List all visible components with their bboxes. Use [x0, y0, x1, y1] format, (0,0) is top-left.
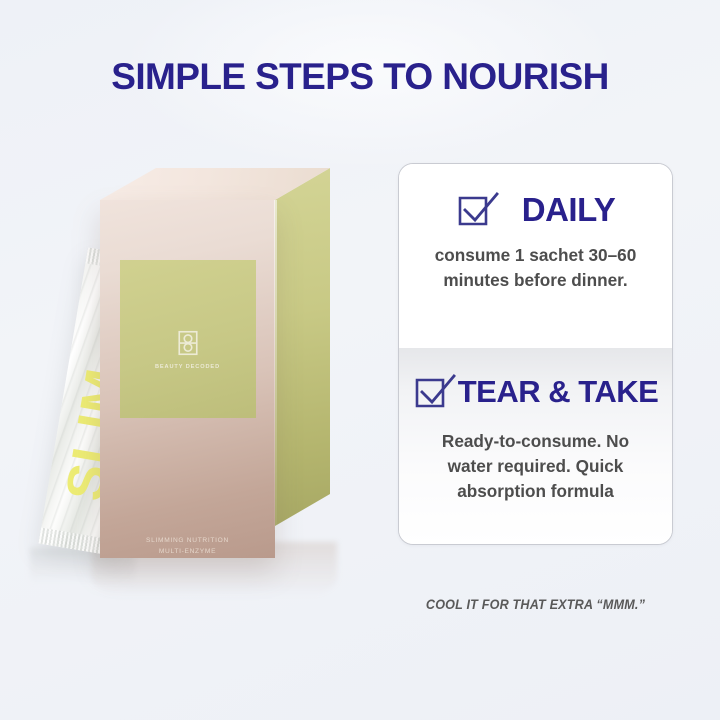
box-edge-highlight: [274, 200, 277, 530]
beauty-decoded-logo-icon: [173, 328, 203, 358]
step-header: DAILY: [413, 164, 658, 230]
steps-panel: DAILY consume 1 sachet 30–60 minutes bef…: [398, 163, 673, 545]
product-box: BEAUTY DECODED SLIMMING NUTRITION MULTI-…: [100, 168, 330, 558]
step-header: TEAR & TAKE: [413, 348, 658, 412]
box-description-line-2: MULTI-ENZYME: [100, 547, 275, 558]
page-title: SIMPLE STEPS TO NOURISH: [0, 56, 720, 98]
box-front-face: BEAUTY DECODED SLIMMING NUTRITION MULTI-…: [100, 200, 275, 558]
checkbox-check-icon: [456, 190, 500, 230]
box-side-face: [275, 168, 330, 526]
footer-note: COOL IT FOR THAT EXTRA “MMM.”: [412, 596, 660, 612]
step-card-daily: DAILY consume 1 sachet 30–60 minutes bef…: [399, 164, 672, 348]
box-description-line-1: SLIMMING NUTRITION: [100, 536, 275, 547]
product-scene: BEAUTY SLIM BEAUTY DECODED SLIMMING NUTR…: [0, 150, 390, 620]
box-brand-text: BEAUTY DECODED: [100, 364, 275, 370]
step-body: Ready-to-consume. No water required. Qui…: [413, 429, 658, 504]
checkbox-check-icon: [413, 372, 457, 412]
step-title: TEAR & TAKE: [458, 374, 659, 410]
box-description: SLIMMING NUTRITION MULTI-ENZYME: [100, 536, 275, 558]
step-title: DAILY: [522, 191, 615, 229]
step-body: consume 1 sachet 30–60 minutes before di…: [413, 243, 658, 293]
step-card-tear-and-take: TEAR & TAKE Ready-to-consume. No water r…: [399, 348, 672, 545]
